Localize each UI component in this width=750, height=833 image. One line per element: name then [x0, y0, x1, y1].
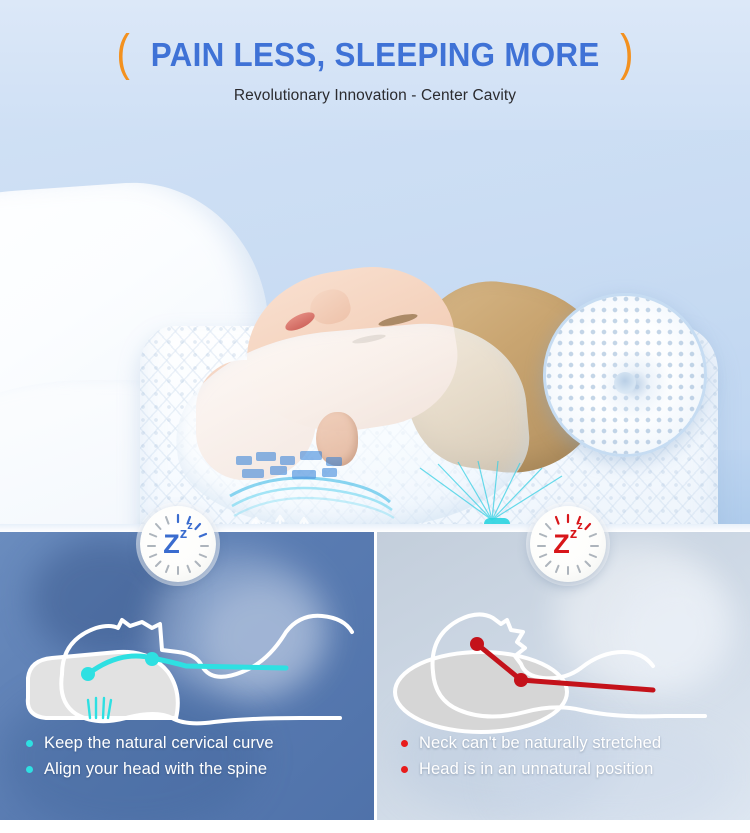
list-item: Keep the natural cervical curve [26, 734, 375, 753]
sleep-quality-badge-bad: Z z z [530, 506, 606, 582]
incorrect-posture-bullets: Neck can't be naturally stretched Head i… [375, 734, 750, 786]
bullet-label: Keep the natural cervical curve [44, 734, 274, 753]
comparison-panels: Keep the natural cervical curve Align yo… [0, 532, 750, 820]
panel-divider [374, 532, 377, 820]
bullet-dot-icon [26, 766, 33, 773]
bottom-strip [0, 820, 750, 833]
z-large: Z [163, 531, 180, 558]
zzz-label: Z z z [163, 531, 193, 558]
list-item: Align your head with the spine [26, 760, 375, 779]
z-medium: z [180, 526, 188, 541]
headline-row: ( PAIN LESS, SLEEPING MORE ) [117, 34, 634, 74]
list-item: Head is in an unnatural position [401, 760, 750, 779]
right-paren: ) [620, 28, 633, 78]
center-cavity-closeup-inset [543, 293, 707, 457]
z-small: z [577, 521, 583, 532]
cervical-support-graphic [222, 450, 402, 528]
header-banner: ( PAIN LESS, SLEEPING MORE ) Revolutiona… [0, 0, 750, 130]
bullet-label: Align your head with the spine [44, 760, 267, 779]
sleep-quality-badge-good: Z z z [140, 506, 216, 582]
left-paren: ( [117, 28, 130, 78]
bullet-label: Neck can't be naturally stretched [419, 734, 661, 753]
list-item: Neck can't be naturally stretched [401, 734, 750, 753]
zzz-label: Z z z [553, 531, 583, 558]
correct-posture-bullets: Keep the natural cervical curve Align yo… [0, 734, 375, 786]
hero-product-photo [0, 130, 750, 528]
bullet-dot-icon [401, 766, 408, 773]
z-small: z [187, 521, 193, 532]
bullet-dot-icon [26, 740, 33, 747]
page-title: PAIN LESS, SLEEPING MORE [151, 38, 600, 71]
section-gap [0, 524, 750, 532]
subtitle: Revolutionary Innovation - Center Cavity [234, 87, 516, 105]
center-cavity-dimple [614, 372, 636, 394]
bullet-dot-icon [401, 740, 408, 747]
product-infographic: ( PAIN LESS, SLEEPING MORE ) Revolutiona… [0, 0, 750, 833]
z-medium: z [570, 526, 578, 541]
z-large: Z [553, 531, 570, 558]
bullet-label: Head is in an unnatural position [419, 760, 653, 779]
